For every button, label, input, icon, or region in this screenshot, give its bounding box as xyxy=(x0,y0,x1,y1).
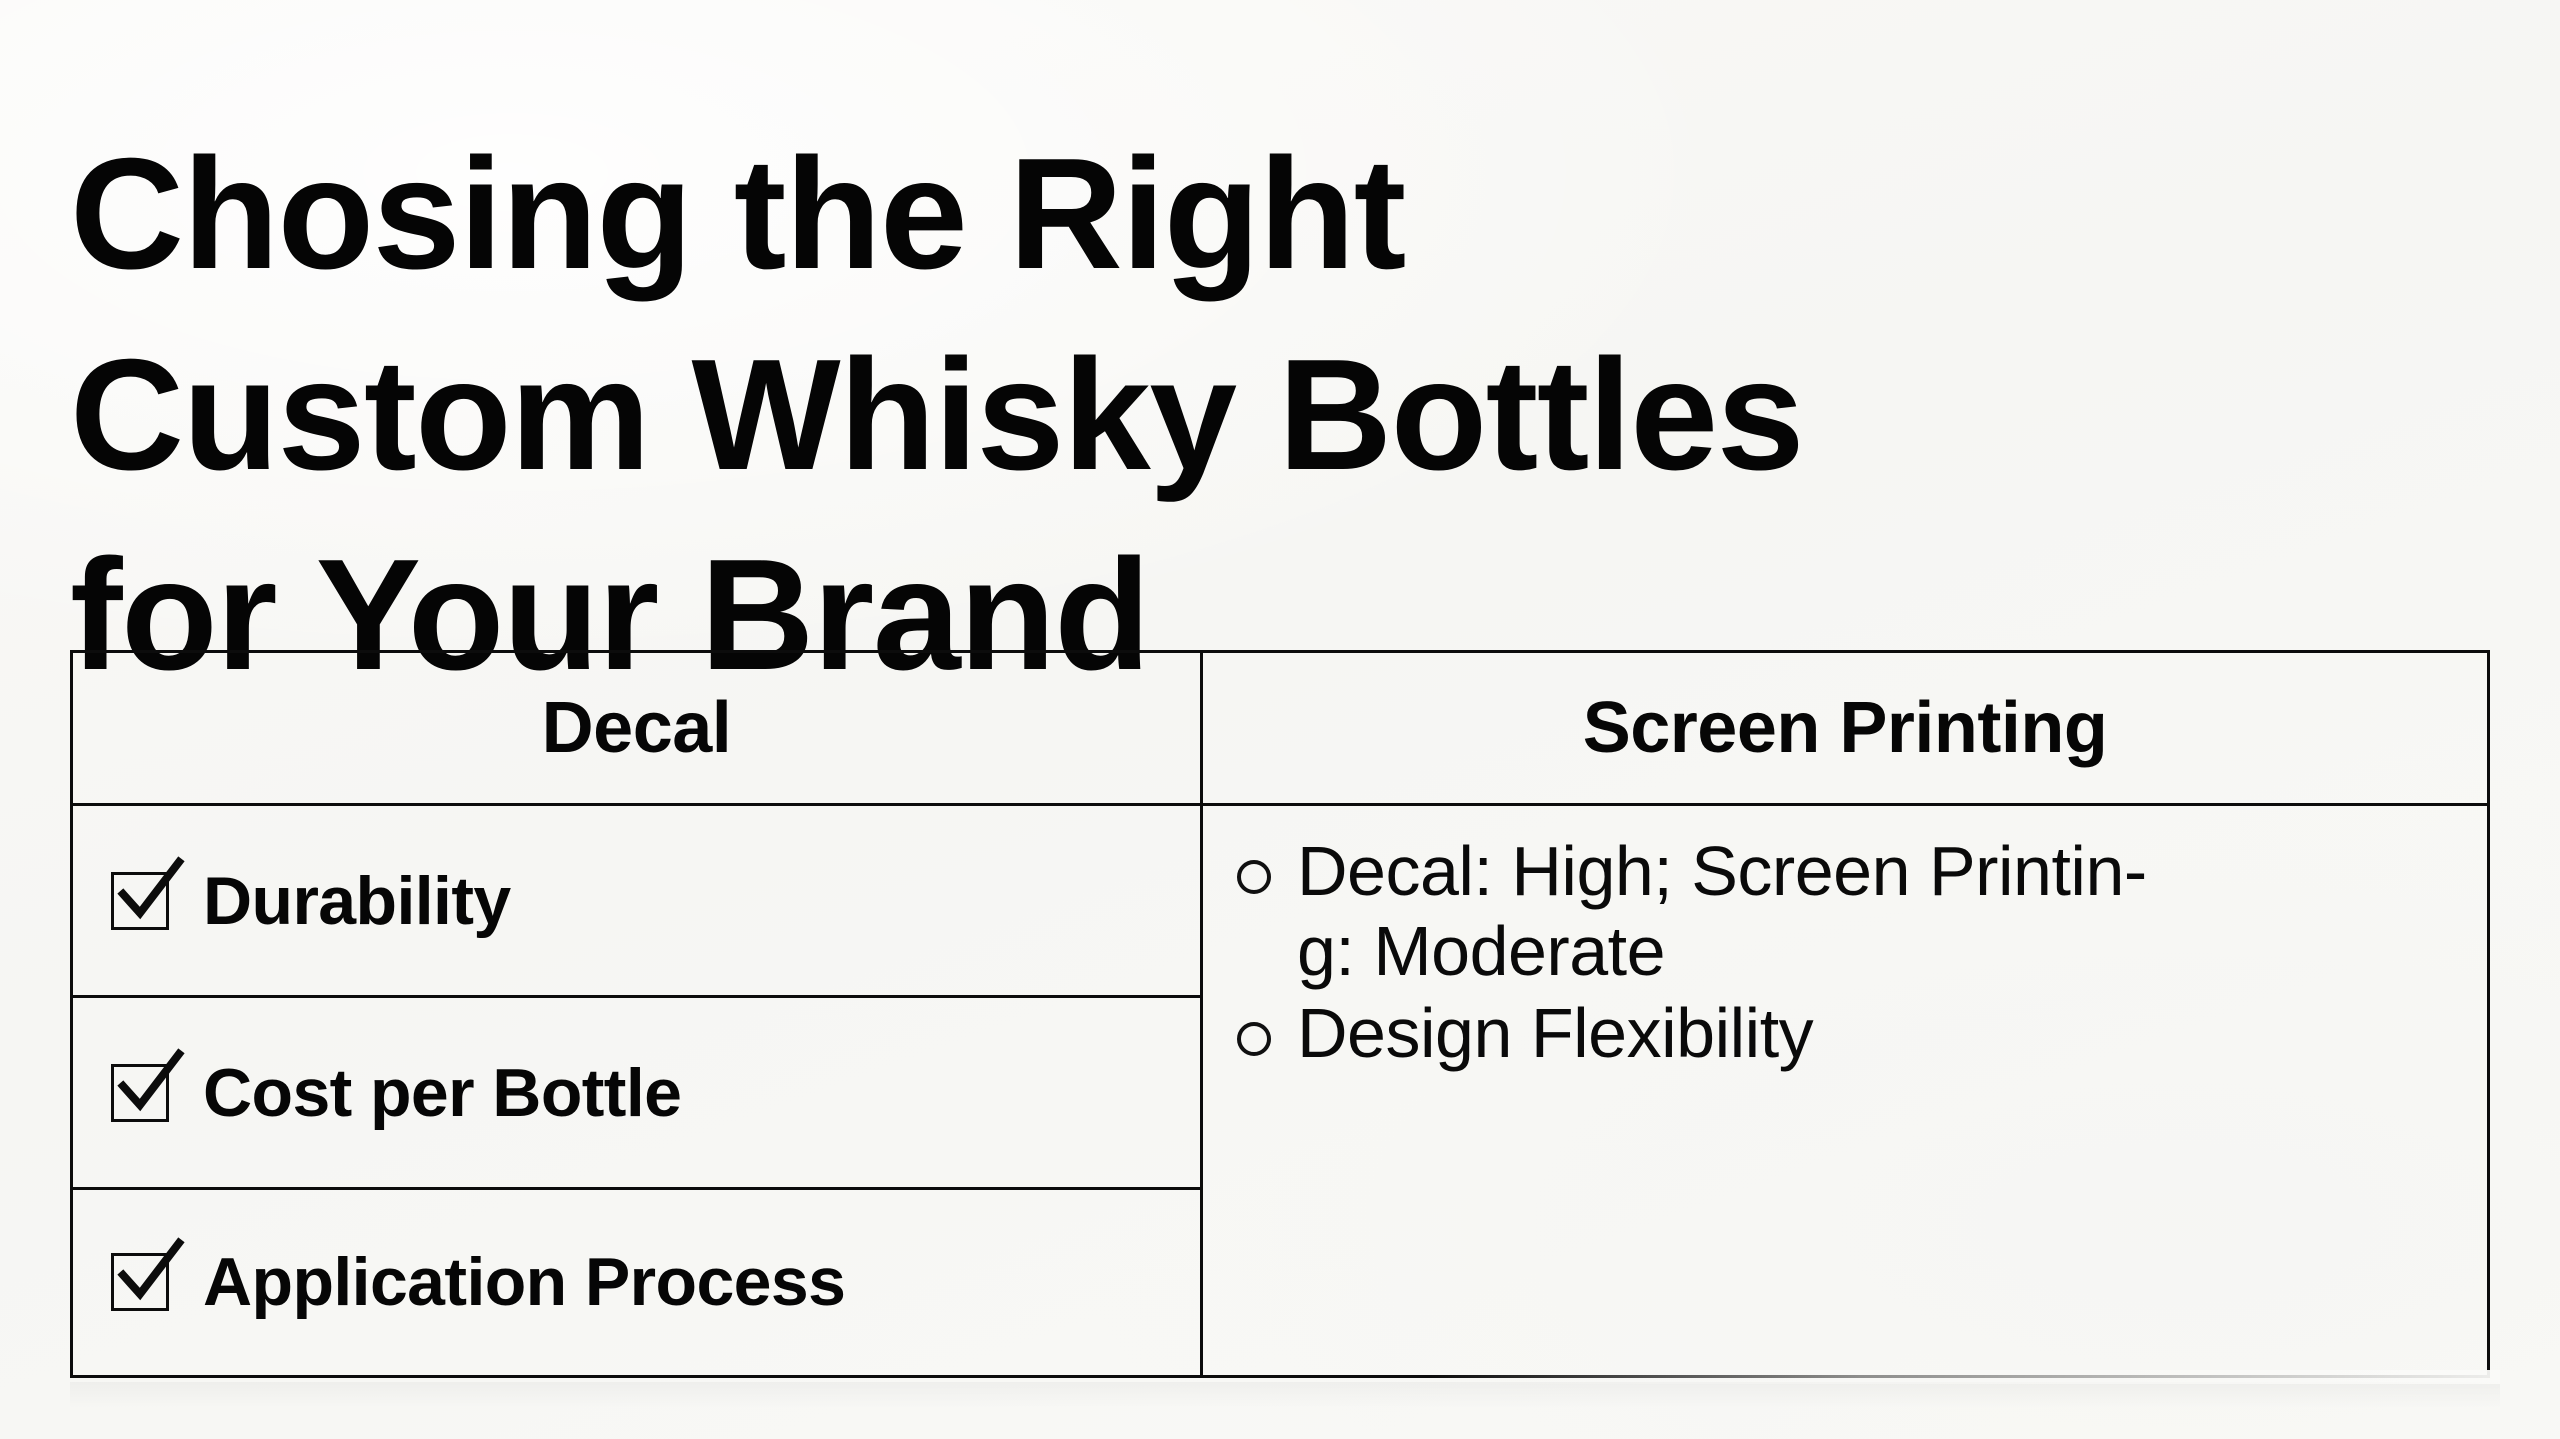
checked-checkbox-icon[interactable] xyxy=(111,1060,173,1122)
table-header-label-decal: Decal xyxy=(542,692,732,764)
table-row-label: Durability xyxy=(203,867,511,935)
table-row: Durability xyxy=(73,806,1200,998)
comparison-table: Decal Durability Cost per xyxy=(70,650,2490,1378)
checked-checkbox-icon[interactable] xyxy=(111,1249,173,1311)
table-row: Cost per Bottle xyxy=(73,998,1200,1190)
circle-bullet-icon xyxy=(1237,1022,1271,1056)
checkmark-icon xyxy=(113,856,187,930)
table-column-screen-printing: Screen Printing Decal: High; Screen Prin… xyxy=(1203,653,2487,1375)
list-item-label: Design Flexibility xyxy=(1297,994,1813,1074)
slide-canvas: Chosing the Right Custom Whisky Bottles … xyxy=(0,0,2560,1439)
table-cell-screen-printing-details: Decal: High; Screen Printin- g: Moderate… xyxy=(1203,806,2487,1375)
page-title: Chosing the Right Custom Whisky Bottles … xyxy=(70,114,2400,716)
table-bottom-shadow xyxy=(70,1382,2500,1408)
table-header-cell-decal: Decal xyxy=(73,653,1200,806)
list-item: Design Flexibility xyxy=(1237,994,2453,1074)
table-row: Application Process xyxy=(73,1190,1200,1374)
table-column-decal: Decal Durability Cost per xyxy=(73,653,1203,1375)
circle-bullet-icon xyxy=(1237,860,1271,894)
checkmark-icon xyxy=(113,1237,187,1311)
checked-checkbox-icon[interactable] xyxy=(111,868,173,930)
table-row-label: Application Process xyxy=(203,1248,845,1316)
list-item: Decal: High; Screen Printin- g: Moderate xyxy=(1237,832,2453,992)
table-row-label: Cost per Bottle xyxy=(203,1059,681,1127)
table-header-label-screen-printing: Screen Printing xyxy=(1583,692,2108,764)
table-header-cell-screen-printing: Screen Printing xyxy=(1203,653,2487,806)
list-item-label: Decal: High; Screen Printin- g: Moderate xyxy=(1297,832,2147,992)
checkmark-icon xyxy=(113,1048,187,1122)
